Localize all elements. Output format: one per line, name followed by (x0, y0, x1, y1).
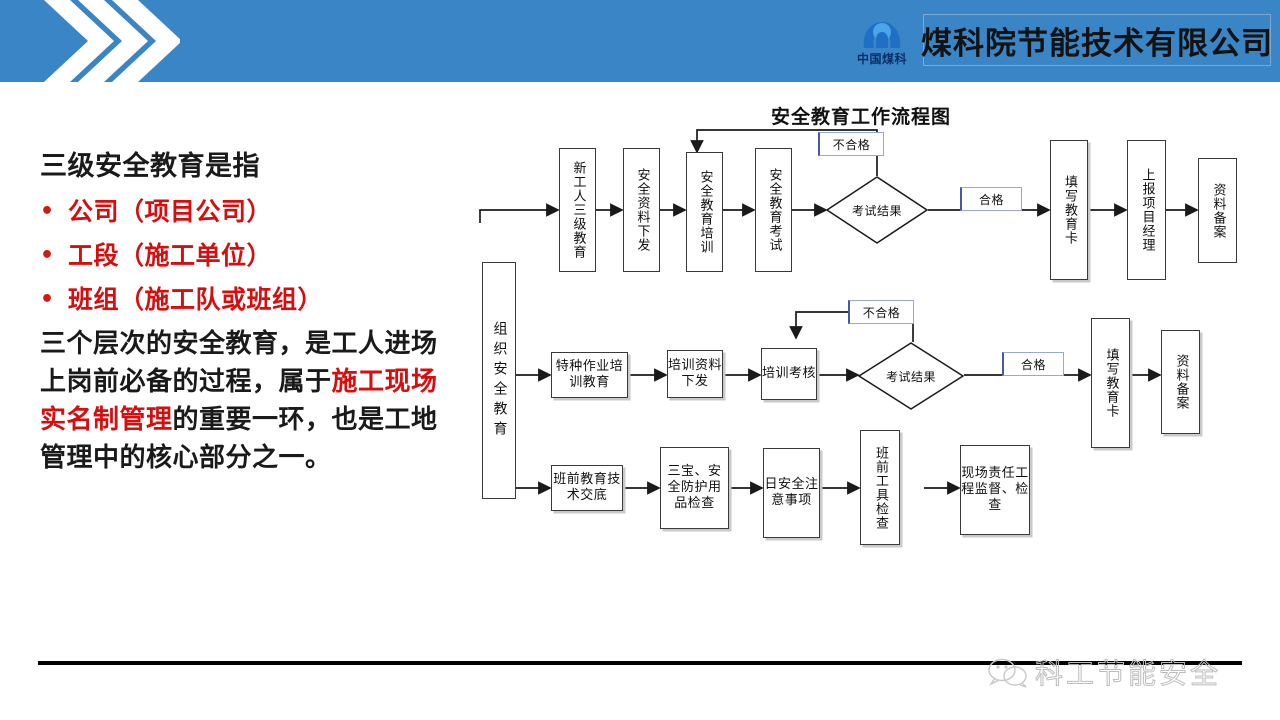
flow-node-report-project-manager: 上报项目经理 (1127, 140, 1166, 280)
double-chevron-right-icon (40, 0, 180, 82)
logo-text: 中国煤科 (857, 53, 907, 65)
company-name: 煤科院节能技术有限公司 (921, 18, 1273, 63)
flow-node-label: 安全教育考试 (766, 168, 780, 252)
flow-node-label: 资料备案 (1173, 354, 1187, 410)
flow-node-label: 三宝、安全防护用品检查 (661, 464, 728, 512)
company-name-box: 煤科院节能技术有限公司 (923, 14, 1271, 66)
flow-node-label: 班前工具检查 (873, 446, 887, 530)
flow-node-label: 填写教育卡 (1062, 175, 1076, 245)
watermark-text: 科工节能安全 (1035, 652, 1221, 692)
flow-node-pre-shift-tool-check: 班前工具检查 (860, 430, 900, 545)
flow-tag-label: 合格 (979, 191, 1004, 208)
flow-tag-label: 不合格 (863, 304, 901, 321)
flow-node-site-responsibility-supervision: 现场责任工程监督、检查 (960, 445, 1030, 535)
flow-node-ppe-inspection: 三宝、安全防护用品检查 (660, 447, 729, 529)
flow-tag-pass-1: 合格 (960, 187, 1022, 211)
flow-node-training-assessment: 培训考核 (761, 348, 817, 400)
footer-watermark: 科工节能安全 (985, 652, 1221, 692)
flow-node-label: 培训资料下发 (668, 358, 722, 390)
flow-node-label: 特种作业培训教育 (552, 359, 627, 391)
bullet-marker-icon: • (40, 194, 68, 230)
flow-node-label: 填写教育卡 (1103, 348, 1117, 418)
flow-node-archive-2: 资料备案 (1161, 330, 1200, 434)
flow-tag-label: 合格 (1021, 356, 1046, 373)
flow-node-special-operation-training: 特种作业培训教育 (551, 352, 628, 398)
bullet-label: 工段（施工单位） (68, 238, 272, 274)
flow-node-fill-education-card-1: 填写教育卡 (1050, 140, 1088, 280)
flow-tag-label: 不合格 (833, 136, 871, 153)
bullet-item-company: • 公司（项目公司） (40, 194, 460, 230)
flow-decision-label: 考试结果 (858, 342, 964, 410)
flow-node-label: 上报项目经理 (1139, 168, 1153, 252)
flow-node-training-material-issue: 培训资料下发 (667, 350, 723, 398)
flow-node-new-worker-training: 新工人三级教育 (559, 148, 596, 272)
flow-node-label: 新工人三级教育 (570, 161, 584, 259)
flow-node-safety-education-training: 安全教育培训 (686, 152, 723, 272)
bullet-item-team: • 班组（施工队或班组） (40, 282, 460, 318)
slide-root: 中国煤科 煤科院节能技术有限公司 三级安全教育是指 • 公司（项目公司） • 工… (0, 0, 1280, 720)
flow-node-label: 现场责任工程监督、检查 (961, 466, 1029, 514)
flow-node-label: 日安全注意事项 (764, 477, 819, 509)
flow-node-label: 资料备案 (1210, 183, 1224, 239)
flow-decision-exam-result-1: 考试结果 (826, 176, 928, 244)
flow-tag-pass-2: 合格 (1002, 352, 1064, 376)
flowchart: 安全教育工作流程图 (466, 90, 1280, 610)
header-bar: 中国煤科 煤科院节能技术有限公司 (0, 0, 1280, 82)
flow-node-label: 培训考核 (762, 366, 816, 382)
section-heading: 三级安全教育是指 (40, 150, 460, 184)
flow-node-archive-1: 资料备案 (1198, 158, 1237, 263)
bullet-label: 公司（项目公司） (68, 194, 272, 230)
flow-node-pre-shift-education: 班前教育技术交底 (551, 465, 623, 511)
flow-decision-exam-result-2: 考试结果 (858, 342, 964, 410)
flow-node-fill-education-card-2: 填写教育卡 (1091, 318, 1130, 448)
bullet-marker-icon: • (40, 282, 68, 318)
coal-emblem-icon (860, 18, 904, 52)
flow-tag-fail-2: 不合格 (848, 300, 914, 324)
left-text-panel: 三级安全教育是指 • 公司（项目公司） • 工段（施工单位） • 班组（施工队或… (40, 150, 460, 478)
bullet-item-workshop: • 工段（施工单位） (40, 238, 460, 274)
flow-node-label: 安全资料下发 (634, 168, 648, 252)
body-paragraph: 三个层次的安全教育，是工人进场上岗前必备的过程，属于施工现场实名制管理的重要一环… (40, 326, 460, 478)
company-logo: 中国煤科 (847, 8, 917, 74)
flow-node-daily-safety-notes: 日安全注意事项 (763, 448, 820, 538)
bullet-marker-icon: • (40, 238, 68, 274)
bullet-label: 班组（施工队或班组） (68, 282, 323, 318)
flow-node-safety-material-issue: 安全资料下发 (623, 148, 660, 272)
flow-node-label: 组织安全教育 (491, 321, 506, 441)
flow-tag-fail-1: 不合格 (818, 132, 884, 156)
flow-decision-label: 考试结果 (826, 176, 928, 244)
wechat-icon (985, 656, 1031, 688)
flow-node-label: 安全教育培训 (697, 170, 711, 254)
flow-node-spine: 组织安全教育 (482, 262, 516, 499)
flow-node-label: 班前教育技术交底 (552, 472, 622, 504)
flow-node-safety-education-exam: 安全教育考试 (755, 148, 792, 272)
